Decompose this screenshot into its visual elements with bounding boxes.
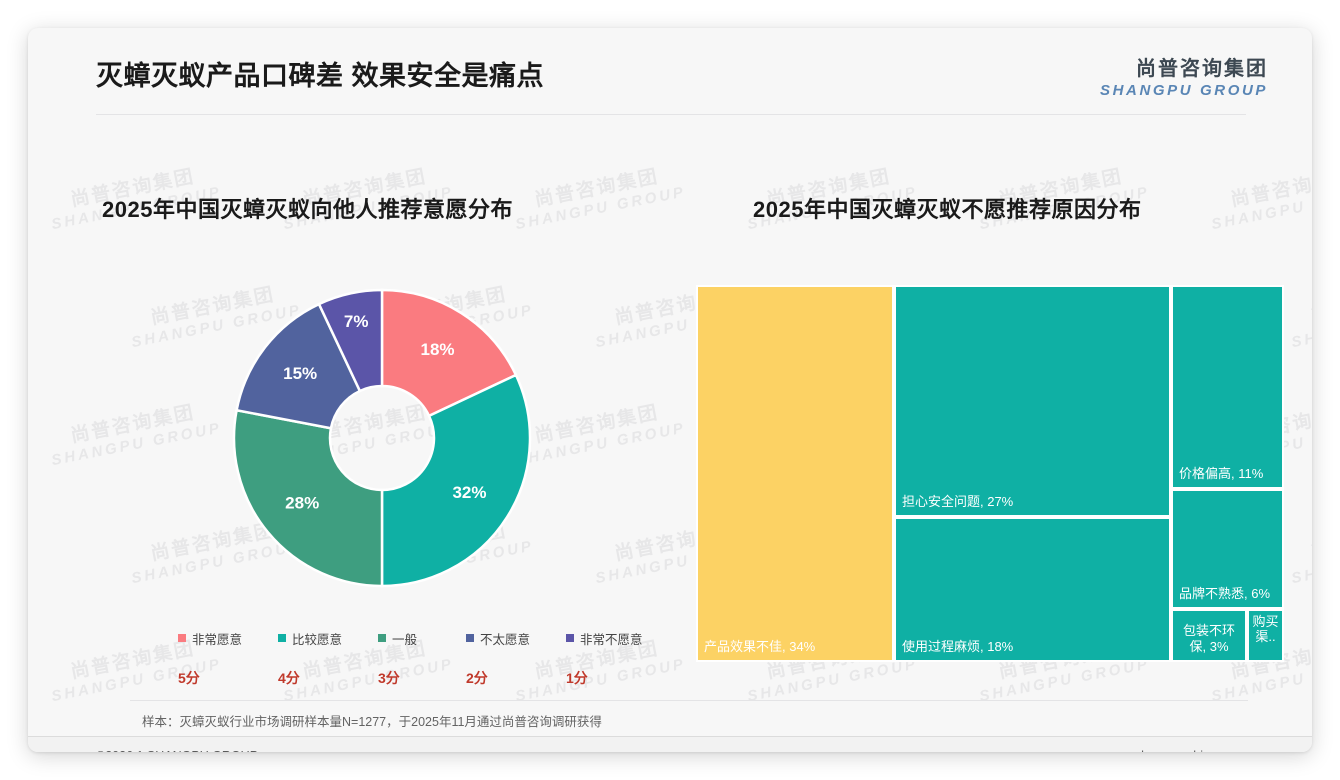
recommendation-donut-chart: 18%32%28%15%7% [208, 270, 556, 608]
treemap-cell[interactable]: 使用过程麻烦, 18% [894, 517, 1171, 662]
score-label: 3分 [378, 668, 466, 688]
brand-logo: 尚普咨询集团 SHANGPU GROUP [1100, 58, 1268, 100]
treemap-cell-label: 包装不环保, 3% [1176, 623, 1242, 656]
logo-english-text: SHANGPU GROUP [1100, 82, 1268, 100]
logo-chinese-text: 尚普咨询集团 [1100, 58, 1268, 81]
score-label: 4分 [278, 668, 378, 688]
left-chart-title: 2025年中国灭蟑灭蚁向他人推荐意愿分布 [102, 192, 513, 224]
legend-item[interactable]: 不太愿意 [466, 628, 566, 648]
watermark-text: 尚普咨询集团SHANGPU GROUP [1206, 162, 1312, 233]
legend-label: 不太愿意 [480, 629, 530, 648]
score-label: 2分 [466, 668, 566, 688]
treemap-cell[interactable]: 购买渠.. [1247, 609, 1284, 662]
score-label: 1分 [566, 668, 678, 688]
watermark-text: 尚普咨询集团SHANGPU GROUP [510, 162, 687, 233]
donut-slice-label: 28% [285, 494, 319, 513]
legend-swatch-icon [378, 634, 386, 642]
sample-footnote: 样本：灭蟑灭蚁行业市场调研样本量N=1277，于2025年11月通过尚普咨询调研… [142, 711, 602, 730]
donut-svg: 18%32%28%15%7% [208, 270, 556, 608]
treemap-cell-label: 购买渠.. [1252, 615, 1279, 645]
slide-header: 灭蟑灭蚁产品口碑差 效果安全是痛点 尚普咨询集团 SHANGPU GROUP [28, 28, 1312, 118]
legend-label: 一般 [392, 629, 417, 648]
legend-item[interactable]: 一般 [378, 628, 466, 648]
watermark-text: 尚普咨询集团SHANGPU GROUP [1286, 516, 1312, 587]
legend-label: 非常不愿意 [580, 629, 643, 648]
treemap-cell-label: 价格偏高, 11% [1179, 466, 1278, 482]
donut-slice-label: 7% [344, 312, 369, 331]
treemap-cell-label: 使用过程麻烦, 18% [902, 639, 1165, 655]
footnote-divider [130, 700, 1248, 701]
legend-item[interactable]: 比较愿意 [278, 628, 378, 648]
donut-slice-label: 15% [283, 364, 317, 383]
page-title: 灭蟑灭蚁产品口碑差 效果安全是痛点 [96, 54, 544, 93]
donut-slice-label: 32% [452, 483, 486, 502]
treemap-cell-label: 产品效果不佳, 34% [704, 639, 888, 655]
donut-slice-label: 18% [420, 340, 454, 359]
donut-slice[interactable] [382, 375, 530, 586]
score-label: 5分 [178, 668, 278, 688]
watermark-text: 尚普咨询集团SHANGPU GROUP [46, 398, 223, 469]
donut-score-row: 5分4分3分2分1分 [178, 668, 678, 688]
slide-footer: ©2026.1 SHANGPU GROUP www.shangpu-china.… [28, 737, 1312, 752]
treemap-cell[interactable]: 价格偏高, 11% [1171, 285, 1284, 489]
treemap-cell-label: 品牌不熟悉, 6% [1179, 586, 1278, 602]
legend-swatch-icon [466, 634, 474, 642]
watermark-text: 尚普咨询集团SHANGPU GROUP [1286, 280, 1312, 351]
legend-item[interactable]: 非常不愿意 [566, 628, 678, 648]
treemap-cell[interactable]: 产品效果不佳, 34% [696, 285, 894, 662]
header-divider [96, 114, 1246, 115]
legend-label: 比较愿意 [292, 629, 342, 648]
treemap-cell-label: 担心安全问题, 27% [902, 494, 1165, 510]
reasons-treemap-chart: 产品效果不佳, 34%担心安全问题, 27%使用过程麻烦, 18%价格偏高, 1… [696, 285, 1284, 662]
treemap-cell[interactable]: 品牌不熟悉, 6% [1171, 489, 1284, 609]
treemap-cell[interactable]: 包装不环保, 3% [1171, 609, 1247, 662]
treemap-cell[interactable]: 担心安全问题, 27% [894, 285, 1171, 517]
donut-legend: 非常愿意比较愿意一般不太愿意非常不愿意 [178, 628, 678, 648]
legend-swatch-icon [566, 634, 574, 642]
slide-canvas: 尚普咨询集团SHANGPU GROUP尚普咨询集团SHANGPU GROUP尚普… [28, 28, 1312, 752]
copyright-text: ©2026.1 SHANGPU GROUP [96, 749, 258, 752]
legend-item[interactable]: 非常愿意 [178, 628, 278, 648]
website-link[interactable]: www.shangpu-china.com [1105, 749, 1244, 752]
legend-label: 非常愿意 [192, 629, 242, 648]
legend-swatch-icon [278, 634, 286, 642]
right-chart-title: 2025年中国灭蟑灭蚁不愿推荐原因分布 [753, 192, 1141, 224]
legend-swatch-icon [178, 634, 186, 642]
